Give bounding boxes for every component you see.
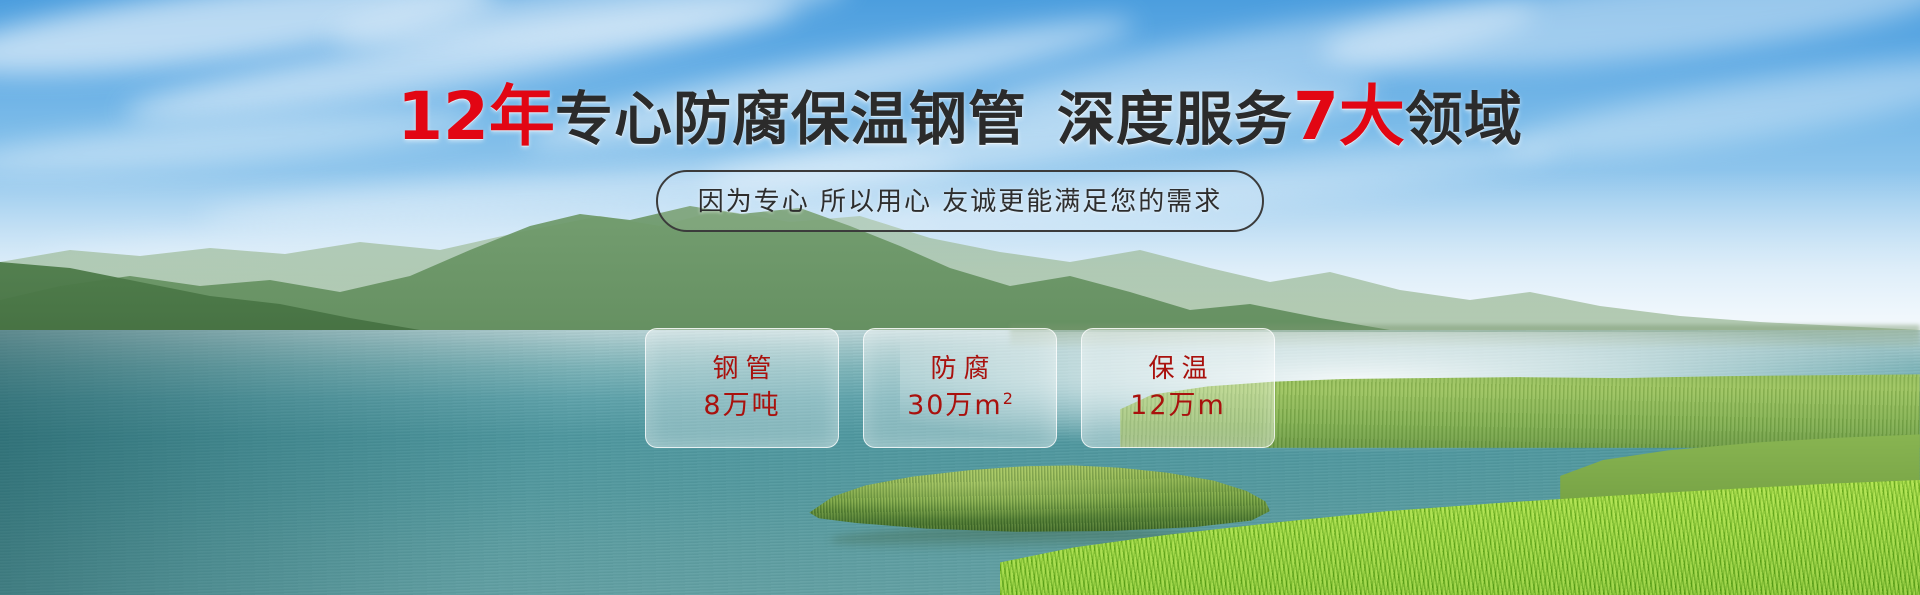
- stat-card-title: 防腐: [923, 353, 996, 386]
- stat-card-title: 保温: [1141, 353, 1214, 386]
- headline-fields: 领域: [1405, 85, 1523, 153]
- stat-card-value: 8万吨: [703, 389, 780, 423]
- headline-主体: 专心防腐保温钢管: [555, 85, 1027, 153]
- stat-card[interactable]: 保温 12万m: [1081, 328, 1275, 448]
- headline-seven: 7大: [1293, 78, 1405, 155]
- headline-service: 深度服务: [1057, 85, 1293, 153]
- subtitle-wrapper: 因为专心 所以用心 友诚更能满足您的需求: [0, 170, 1920, 232]
- stat-value-number: 8万吨: [703, 390, 780, 421]
- subtitle-pill: 因为专心 所以用心 友诚更能满足您的需求: [656, 170, 1265, 232]
- stat-card-title: 钢管: [705, 353, 778, 386]
- headline: 12年专心防腐保温钢管深度服务7大领域: [0, 84, 1920, 150]
- promo-banner: 12年专心防腐保温钢管深度服务7大领域 因为专心 所以用心 友诚更能满足您的需求…: [0, 0, 1920, 595]
- stat-value-number: 12万m: [1130, 390, 1226, 421]
- stat-value-number: 30万m: [907, 390, 1003, 421]
- stat-card[interactable]: 钢管 8万吨: [645, 328, 839, 448]
- stat-card[interactable]: 防腐 30万m2: [863, 328, 1057, 448]
- headline-years: 12年: [397, 78, 555, 155]
- stat-card-list: 钢管 8万吨 防腐 30万m2 保温 12万m: [0, 328, 1920, 448]
- banner-content: 12年专心防腐保温钢管深度服务7大领域 因为专心 所以用心 友诚更能满足您的需求…: [0, 0, 1920, 595]
- stat-card-value: 30万m2: [907, 389, 1013, 423]
- stat-card-value: 12万m: [1130, 389, 1226, 423]
- stat-value-exponent: 2: [1003, 389, 1013, 408]
